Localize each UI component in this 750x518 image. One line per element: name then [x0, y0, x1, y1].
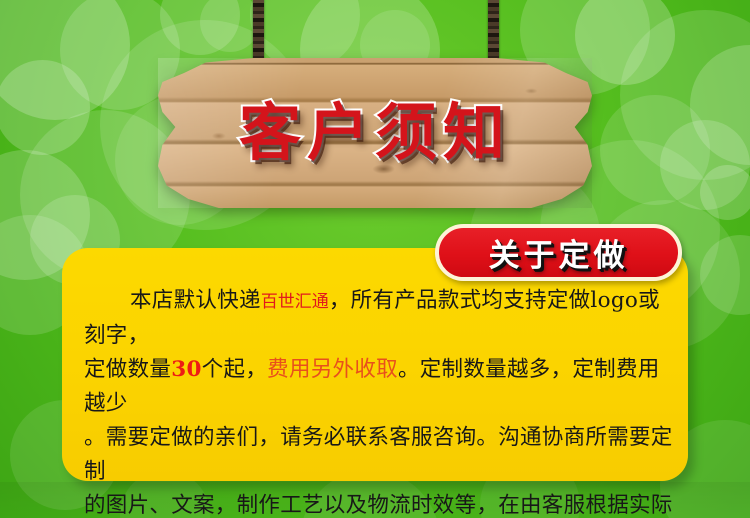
- bokeh-circle: [160, 0, 240, 55]
- page-title: 客户须知: [158, 82, 592, 172]
- bokeh-circle: [700, 165, 750, 220]
- section-badge-about-customization: 关于定做: [435, 224, 682, 281]
- bokeh-circle: [0, 0, 130, 120]
- min-quantity-value: 30: [171, 357, 202, 382]
- bokeh-circle: [600, 95, 710, 205]
- info-line-2-part-b: 个起，: [202, 357, 267, 382]
- bokeh-circle: [690, 45, 750, 165]
- bokeh-circle: [200, 0, 260, 52]
- info-line-2-part-a: 定做数量: [84, 357, 171, 382]
- bokeh-circle: [700, 235, 750, 315]
- bokeh-circle: [0, 60, 90, 155]
- bokeh-circle: [660, 120, 750, 210]
- info-line-4: 的图片、文案，制作工艺以及物流时效等，在由客服根据实际情: [84, 489, 674, 518]
- bokeh-circle: [620, 10, 750, 180]
- info-line-1-part-a: 本店默认快递: [130, 288, 261, 313]
- section-badge-label: 关于定做: [489, 230, 629, 275]
- promo-poster: 客户须知 关于定做 本店默认快递百世汇通，所有产品款式均支持定做logo或刻字，…: [0, 0, 750, 518]
- wooden-sign: 客户须知: [158, 58, 592, 208]
- info-panel-text: 本店默认快递百世汇通，所有产品款式均支持定做logo或刻字， 定做数量30个起，…: [84, 284, 674, 518]
- info-line-2: 定做数量30个起，费用另外收取。定制数量越多，定制费用越少: [84, 353, 674, 421]
- info-line-3: 。需要定做的亲们，请务必联系客服咨询。沟通协商所需要定制: [84, 421, 674, 489]
- info-line-1: 本店默认快递百世汇通，所有产品款式均支持定做logo或刻字，: [84, 284, 674, 353]
- courier-name: 百世汇通: [261, 292, 329, 312]
- extra-fee-note: 费用另外收取: [267, 357, 398, 382]
